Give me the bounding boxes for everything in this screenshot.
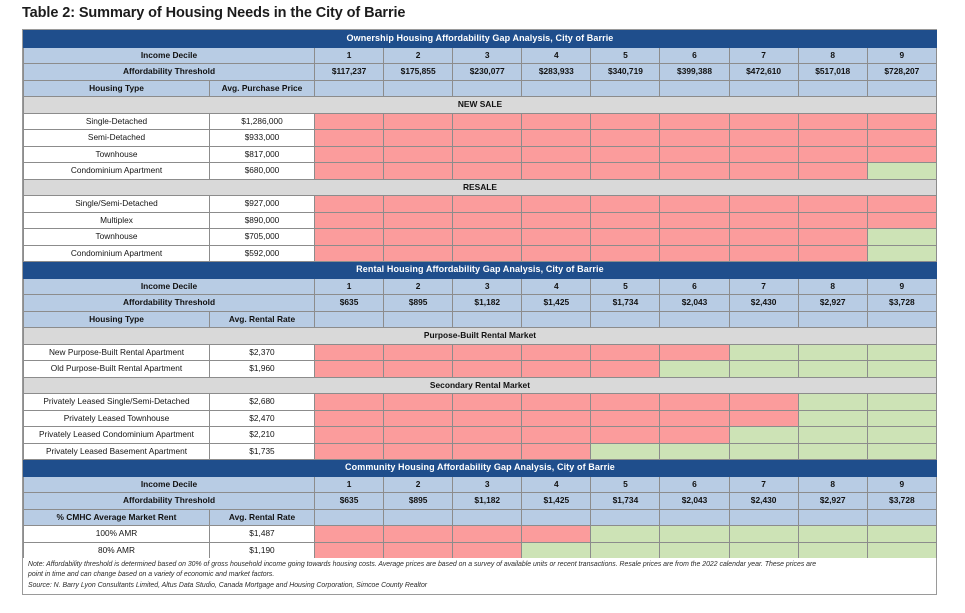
unaffordable-cell-decile-5 [591, 130, 660, 147]
threshold-value-9: $3,728 [867, 295, 936, 312]
unaffordable-cell-decile-4 [522, 344, 591, 361]
row-value: $1,960 [210, 361, 315, 378]
header-spacer-cell [798, 311, 867, 328]
housing-type-header: Housing Type [24, 80, 210, 97]
affordable-cell-decile-8 [798, 427, 867, 444]
row-value: $817,000 [210, 146, 315, 163]
table-row: 80% AMR$1,190 [24, 542, 937, 559]
unaffordable-cell-decile-3 [453, 229, 522, 246]
section-band-title: Ownership Housing Affordability Gap Anal… [24, 31, 937, 48]
unaffordable-cell-decile-5 [591, 245, 660, 262]
row-label: Condominium Apartment [24, 245, 210, 262]
header-spacer-cell [522, 80, 591, 97]
threshold-value-6: $2,043 [660, 295, 729, 312]
unaffordable-cell-decile-1 [315, 245, 384, 262]
decile-header-8: 8 [798, 47, 867, 64]
section-band-title: Community Housing Affordability Gap Anal… [24, 460, 937, 477]
unaffordable-cell-decile-8 [798, 146, 867, 163]
unaffordable-cell-decile-3 [453, 196, 522, 213]
header-spacer-cell [522, 311, 591, 328]
row-label: New Purpose-Built Rental Apartment [24, 344, 210, 361]
unaffordable-cell-decile-4 [522, 427, 591, 444]
threshold-value-4: $1,425 [522, 295, 591, 312]
affordable-cell-decile-9 [867, 344, 936, 361]
note-line-1: Note: Affordability threshold is determi… [28, 560, 932, 570]
unaffordable-cell-decile-3 [453, 427, 522, 444]
threshold-value-3: $230,077 [453, 64, 522, 81]
unaffordable-cell-decile-6 [660, 394, 729, 411]
unaffordable-cell-decile-3 [453, 245, 522, 262]
group-header-title: Secondary Rental Market [24, 377, 937, 394]
group-header-row: Purpose-Built Rental Market [24, 328, 937, 345]
affordability-threshold-label: Affordability Threshold [24, 64, 315, 81]
header-spacer-cell [591, 509, 660, 526]
decile-header-9: 9 [867, 278, 936, 295]
unaffordable-cell-decile-7 [729, 163, 798, 180]
section-band-title: Rental Housing Affordability Gap Analysi… [24, 262, 937, 279]
affordable-cell-decile-7 [729, 344, 798, 361]
row-value: $1,735 [210, 443, 315, 460]
unaffordable-cell-decile-2 [384, 196, 453, 213]
decile-header-6: 6 [660, 47, 729, 64]
unaffordable-cell-decile-6 [660, 245, 729, 262]
table-row: Privately Leased Condominium Apartment$2… [24, 427, 937, 444]
affordability-threshold-label: Affordability Threshold [24, 295, 315, 312]
unaffordable-cell-decile-3 [453, 163, 522, 180]
threshold-value-1: $117,237 [315, 64, 384, 81]
unaffordable-cell-decile-3 [453, 344, 522, 361]
threshold-value-3: $1,182 [453, 295, 522, 312]
page-title: Table 2: Summary of Housing Needs in the… [22, 5, 405, 21]
row-label: Privately Leased Condominium Apartment [24, 427, 210, 444]
unaffordable-cell-decile-5 [591, 427, 660, 444]
unaffordable-cell-decile-3 [453, 394, 522, 411]
unaffordable-cell-decile-8 [798, 229, 867, 246]
unaffordable-cell-decile-3 [453, 212, 522, 229]
decile-header-6: 6 [660, 278, 729, 295]
header-spacer-cell [453, 80, 522, 97]
header-spacer-cell [315, 311, 384, 328]
decile-header-8: 8 [798, 476, 867, 493]
unaffordable-cell-decile-8 [798, 196, 867, 213]
housing-type-header: % CMHC Average Market Rent [24, 509, 210, 526]
affordable-cell-decile-9 [867, 410, 936, 427]
affordable-cell-decile-8 [798, 526, 867, 543]
affordable-cell-decile-4 [522, 542, 591, 559]
header-spacer-cell [522, 509, 591, 526]
unaffordable-cell-decile-4 [522, 130, 591, 147]
income-decile-label: Income Decile [24, 47, 315, 64]
page-root: Table 2: Summary of Housing Needs in the… [0, 0, 965, 613]
header-spacer-cell [315, 509, 384, 526]
decile-header-5: 5 [591, 476, 660, 493]
unaffordable-cell-decile-5 [591, 361, 660, 378]
housing-needs-table: Ownership Housing Affordability Gap Anal… [22, 29, 937, 577]
threshold-value-5: $340,719 [591, 64, 660, 81]
value-column-header: Avg. Rental Rate [210, 509, 315, 526]
unaffordable-cell-decile-3 [453, 361, 522, 378]
unaffordable-cell-decile-6 [660, 427, 729, 444]
unaffordable-cell-decile-9 [867, 212, 936, 229]
unaffordable-cell-decile-5 [591, 196, 660, 213]
affordable-cell-decile-8 [798, 394, 867, 411]
affordable-cell-decile-9 [867, 361, 936, 378]
row-label: Privately Leased Single/Semi-Detached [24, 394, 210, 411]
unaffordable-cell-decile-3 [453, 146, 522, 163]
unaffordable-cell-decile-6 [660, 212, 729, 229]
unaffordable-cell-decile-4 [522, 245, 591, 262]
table-row: Condominium Apartment$592,000 [24, 245, 937, 262]
row-label: Old Purpose-Built Rental Apartment [24, 361, 210, 378]
unaffordable-cell-decile-4 [522, 146, 591, 163]
decile-header-1: 1 [315, 47, 384, 64]
unaffordable-cell-decile-6 [660, 113, 729, 130]
column-header-row: % CMHC Average Market RentAvg. Rental Ra… [24, 509, 937, 526]
header-spacer-cell [798, 80, 867, 97]
threshold-value-7: $472,610 [729, 64, 798, 81]
column-header-row: Housing TypeAvg. Rental Rate [24, 311, 937, 328]
unaffordable-cell-decile-7 [729, 229, 798, 246]
unaffordable-cell-decile-7 [729, 410, 798, 427]
income-decile-label: Income Decile [24, 278, 315, 295]
unaffordable-cell-decile-7 [729, 113, 798, 130]
unaffordable-cell-decile-5 [591, 229, 660, 246]
row-label: Multiplex [24, 212, 210, 229]
unaffordable-cell-decile-4 [522, 394, 591, 411]
table-row: New Purpose-Built Rental Apartment$2,370 [24, 344, 937, 361]
header-spacer-cell [867, 509, 936, 526]
affordable-cell-decile-6 [660, 542, 729, 559]
unaffordable-cell-decile-4 [522, 163, 591, 180]
unaffordable-cell-decile-2 [384, 146, 453, 163]
unaffordable-cell-decile-4 [522, 113, 591, 130]
affordable-cell-decile-8 [798, 443, 867, 460]
row-label: 100% AMR [24, 526, 210, 543]
unaffordable-cell-decile-4 [522, 229, 591, 246]
affordability-threshold-row: Affordability Threshold$635$895$1,182$1,… [24, 493, 937, 510]
header-spacer-cell [591, 311, 660, 328]
unaffordable-cell-decile-6 [660, 146, 729, 163]
group-header-title: RESALE [24, 179, 937, 196]
unaffordable-cell-decile-7 [729, 146, 798, 163]
unaffordable-cell-decile-8 [798, 113, 867, 130]
unaffordable-cell-decile-1 [315, 394, 384, 411]
unaffordable-cell-decile-5 [591, 394, 660, 411]
threshold-value-6: $399,388 [660, 64, 729, 81]
affordable-cell-decile-9 [867, 427, 936, 444]
unaffordable-cell-decile-1 [315, 443, 384, 460]
section-band-row: Community Housing Affordability Gap Anal… [24, 460, 937, 477]
unaffordable-cell-decile-2 [384, 245, 453, 262]
header-spacer-cell [729, 80, 798, 97]
header-spacer-cell [867, 311, 936, 328]
affordable-cell-decile-9 [867, 163, 936, 180]
threshold-value-5: $1,734 [591, 493, 660, 510]
affordable-cell-decile-5 [591, 542, 660, 559]
unaffordable-cell-decile-6 [660, 410, 729, 427]
affordable-cell-decile-6 [660, 526, 729, 543]
decile-header-2: 2 [384, 476, 453, 493]
unaffordable-cell-decile-1 [315, 526, 384, 543]
unaffordable-cell-decile-1 [315, 229, 384, 246]
decile-header-4: 4 [522, 476, 591, 493]
table-row: Single-Detached$1,286,000 [24, 113, 937, 130]
unaffordable-cell-decile-8 [798, 130, 867, 147]
row-label: 80% AMR [24, 542, 210, 559]
unaffordable-cell-decile-2 [384, 163, 453, 180]
threshold-value-8: $2,927 [798, 295, 867, 312]
affordable-cell-decile-8 [798, 542, 867, 559]
unaffordable-cell-decile-1 [315, 542, 384, 559]
row-label: Condominium Apartment [24, 163, 210, 180]
table-notes: Note: Affordability threshold is determi… [22, 558, 937, 595]
row-label: Single-Detached [24, 113, 210, 130]
threshold-value-7: $2,430 [729, 295, 798, 312]
unaffordable-cell-decile-7 [729, 394, 798, 411]
affordable-cell-decile-7 [729, 542, 798, 559]
decile-header-3: 3 [453, 476, 522, 493]
unaffordable-cell-decile-2 [384, 427, 453, 444]
table-row: Townhouse$817,000 [24, 146, 937, 163]
unaffordable-cell-decile-2 [384, 130, 453, 147]
table-row: 100% AMR$1,487 [24, 526, 937, 543]
table-row: Condominium Apartment$680,000 [24, 163, 937, 180]
unaffordable-cell-decile-6 [660, 229, 729, 246]
threshold-value-2: $175,855 [384, 64, 453, 81]
unaffordable-cell-decile-7 [729, 245, 798, 262]
unaffordable-cell-decile-2 [384, 212, 453, 229]
affordability-threshold-label: Affordability Threshold [24, 493, 315, 510]
group-header-row: RESALE [24, 179, 937, 196]
row-label: Townhouse [24, 229, 210, 246]
affordable-cell-decile-6 [660, 361, 729, 378]
row-value: $2,210 [210, 427, 315, 444]
row-value: $592,000 [210, 245, 315, 262]
table-row: Old Purpose-Built Rental Apartment$1,960 [24, 361, 937, 378]
unaffordable-cell-decile-4 [522, 410, 591, 427]
row-value: $705,000 [210, 229, 315, 246]
header-spacer-cell [660, 311, 729, 328]
unaffordable-cell-decile-1 [315, 163, 384, 180]
unaffordable-cell-decile-2 [384, 394, 453, 411]
row-value: $933,000 [210, 130, 315, 147]
row-label: Privately Leased Basement Apartment [24, 443, 210, 460]
unaffordable-cell-decile-3 [453, 443, 522, 460]
affordable-cell-decile-6 [660, 443, 729, 460]
decile-header-1: 1 [315, 278, 384, 295]
threshold-value-9: $3,728 [867, 493, 936, 510]
decile-header-5: 5 [591, 47, 660, 64]
group-header-row: Secondary Rental Market [24, 377, 937, 394]
threshold-value-4: $1,425 [522, 493, 591, 510]
unaffordable-cell-decile-3 [453, 410, 522, 427]
unaffordable-cell-decile-5 [591, 146, 660, 163]
threshold-value-1: $635 [315, 295, 384, 312]
row-value: $1,286,000 [210, 113, 315, 130]
threshold-value-3: $1,182 [453, 493, 522, 510]
header-spacer-cell [591, 80, 660, 97]
value-column-header: Avg. Rental Rate [210, 311, 315, 328]
unaffordable-cell-decile-4 [522, 212, 591, 229]
affordable-cell-decile-9 [867, 394, 936, 411]
decile-header-8: 8 [798, 278, 867, 295]
affordable-cell-decile-9 [867, 245, 936, 262]
unaffordable-cell-decile-6 [660, 344, 729, 361]
affordable-cell-decile-9 [867, 526, 936, 543]
unaffordable-cell-decile-9 [867, 130, 936, 147]
header-spacer-cell [315, 80, 384, 97]
unaffordable-cell-decile-4 [522, 443, 591, 460]
threshold-value-7: $2,430 [729, 493, 798, 510]
row-label: Townhouse [24, 146, 210, 163]
decile-header-3: 3 [453, 278, 522, 295]
row-label: Semi-Detached [24, 130, 210, 147]
unaffordable-cell-decile-2 [384, 361, 453, 378]
unaffordable-cell-decile-9 [867, 146, 936, 163]
unaffordable-cell-decile-2 [384, 229, 453, 246]
housing-type-header: Housing Type [24, 311, 210, 328]
header-spacer-cell [867, 80, 936, 97]
group-header-title: NEW SALE [24, 97, 937, 114]
unaffordable-cell-decile-7 [729, 196, 798, 213]
decile-header-7: 7 [729, 476, 798, 493]
header-spacer-cell [384, 80, 453, 97]
column-header-row: Housing TypeAvg. Purchase Price [24, 80, 937, 97]
header-spacer-cell [729, 509, 798, 526]
affordable-cell-decile-5 [591, 526, 660, 543]
unaffordable-cell-decile-5 [591, 212, 660, 229]
decile-header-5: 5 [591, 278, 660, 295]
affordable-cell-decile-5 [591, 443, 660, 460]
affordability-threshold-row: Affordability Threshold$117,237$175,855$… [24, 64, 937, 81]
affordable-cell-decile-8 [798, 410, 867, 427]
unaffordable-cell-decile-8 [798, 245, 867, 262]
unaffordable-cell-decile-3 [453, 526, 522, 543]
header-spacer-cell [384, 509, 453, 526]
income-decile-row: Income Decile123456789 [24, 47, 937, 64]
affordability-threshold-row: Affordability Threshold$635$895$1,182$1,… [24, 295, 937, 312]
threshold-value-4: $283,933 [522, 64, 591, 81]
affordable-cell-decile-7 [729, 427, 798, 444]
unaffordable-cell-decile-3 [453, 130, 522, 147]
threshold-value-2: $895 [384, 493, 453, 510]
decile-header-6: 6 [660, 476, 729, 493]
decile-header-7: 7 [729, 278, 798, 295]
unaffordable-cell-decile-2 [384, 443, 453, 460]
unaffordable-cell-decile-2 [384, 410, 453, 427]
affordable-cell-decile-7 [729, 526, 798, 543]
threshold-value-1: $635 [315, 493, 384, 510]
decile-header-9: 9 [867, 47, 936, 64]
header-spacer-cell [453, 311, 522, 328]
threshold-value-9: $728,207 [867, 64, 936, 81]
row-label: Single/Semi-Detached [24, 196, 210, 213]
row-value: $680,000 [210, 163, 315, 180]
unaffordable-cell-decile-1 [315, 427, 384, 444]
table-row: Multiplex$890,000 [24, 212, 937, 229]
affordable-cell-decile-9 [867, 542, 936, 559]
decile-header-7: 7 [729, 47, 798, 64]
threshold-value-8: $2,927 [798, 493, 867, 510]
affordable-cell-decile-9 [867, 229, 936, 246]
unaffordable-cell-decile-5 [591, 163, 660, 180]
unaffordable-cell-decile-6 [660, 163, 729, 180]
section-band-row: Rental Housing Affordability Gap Analysi… [24, 262, 937, 279]
affordability-grid: Ownership Housing Affordability Gap Anal… [23, 30, 937, 576]
unaffordable-cell-decile-6 [660, 196, 729, 213]
unaffordable-cell-decile-2 [384, 526, 453, 543]
row-value: $2,370 [210, 344, 315, 361]
unaffordable-cell-decile-2 [384, 113, 453, 130]
unaffordable-cell-decile-8 [798, 212, 867, 229]
unaffordable-cell-decile-5 [591, 113, 660, 130]
table-row: Privately Leased Basement Apartment$1,73… [24, 443, 937, 460]
note-line-2: point in time and can change based on a … [28, 570, 932, 580]
section-band-row: Ownership Housing Affordability Gap Anal… [24, 31, 937, 48]
unaffordable-cell-decile-4 [522, 196, 591, 213]
unaffordable-cell-decile-3 [453, 542, 522, 559]
row-value: $890,000 [210, 212, 315, 229]
threshold-value-8: $517,018 [798, 64, 867, 81]
unaffordable-cell-decile-4 [522, 361, 591, 378]
header-spacer-cell [453, 509, 522, 526]
decile-header-9: 9 [867, 476, 936, 493]
unaffordable-cell-decile-9 [867, 113, 936, 130]
unaffordable-cell-decile-2 [384, 542, 453, 559]
decile-header-3: 3 [453, 47, 522, 64]
affordable-cell-decile-7 [729, 361, 798, 378]
table-row: Privately Leased Townhouse$2,470 [24, 410, 937, 427]
unaffordable-cell-decile-5 [591, 344, 660, 361]
income-decile-row: Income Decile123456789 [24, 278, 937, 295]
header-spacer-cell [729, 311, 798, 328]
threshold-value-6: $2,043 [660, 493, 729, 510]
unaffordable-cell-decile-1 [315, 196, 384, 213]
unaffordable-cell-decile-1 [315, 212, 384, 229]
header-spacer-cell [660, 509, 729, 526]
unaffordable-cell-decile-3 [453, 113, 522, 130]
unaffordable-cell-decile-6 [660, 130, 729, 147]
income-decile-label: Income Decile [24, 476, 315, 493]
unaffordable-cell-decile-7 [729, 130, 798, 147]
value-column-header: Avg. Purchase Price [210, 80, 315, 97]
table-row: Single/Semi-Detached$927,000 [24, 196, 937, 213]
unaffordable-cell-decile-2 [384, 344, 453, 361]
header-spacer-cell [798, 509, 867, 526]
row-value: $2,680 [210, 394, 315, 411]
table-row: Semi-Detached$933,000 [24, 130, 937, 147]
header-spacer-cell [660, 80, 729, 97]
income-decile-row: Income Decile123456789 [24, 476, 937, 493]
table-row: Privately Leased Single/Semi-Detached$2,… [24, 394, 937, 411]
unaffordable-cell-decile-1 [315, 113, 384, 130]
header-spacer-cell [384, 311, 453, 328]
row-value: $2,470 [210, 410, 315, 427]
unaffordable-cell-decile-5 [591, 410, 660, 427]
affordable-cell-decile-8 [798, 361, 867, 378]
decile-header-2: 2 [384, 47, 453, 64]
unaffordable-cell-decile-4 [522, 526, 591, 543]
decile-header-4: 4 [522, 278, 591, 295]
row-label: Privately Leased Townhouse [24, 410, 210, 427]
row-value: $1,190 [210, 542, 315, 559]
note-line-3-source: Source: N. Barry Lyon Consultants Limite… [28, 580, 932, 591]
decile-header-4: 4 [522, 47, 591, 64]
unaffordable-cell-decile-1 [315, 361, 384, 378]
unaffordable-cell-decile-7 [729, 212, 798, 229]
row-value: $1,487 [210, 526, 315, 543]
affordable-cell-decile-8 [798, 344, 867, 361]
